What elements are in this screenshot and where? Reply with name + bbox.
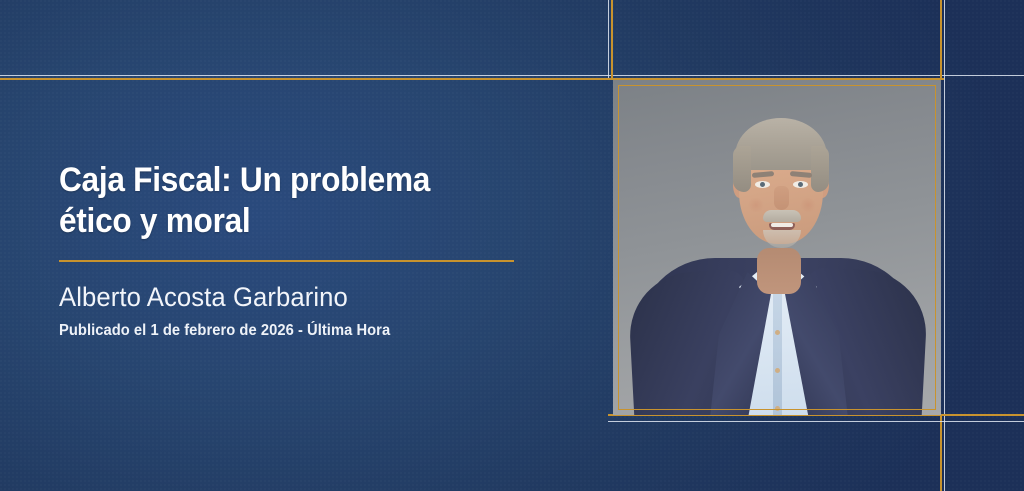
chin-beard bbox=[763, 230, 801, 248]
hair-side-right bbox=[811, 146, 829, 192]
right-vertical-gold-rule-bottom bbox=[940, 414, 942, 491]
shirt-placket bbox=[773, 286, 782, 415]
pupil-left bbox=[760, 182, 765, 187]
left-vertical-gold-rule bbox=[611, 0, 613, 80]
eye-left bbox=[755, 181, 770, 188]
shirt-button bbox=[775, 406, 780, 411]
article-text-block: Caja Fiscal: Un problema ético y moral A… bbox=[59, 160, 529, 340]
cheek-left bbox=[747, 198, 765, 212]
title-gold-divider bbox=[59, 260, 514, 262]
teeth-shape bbox=[771, 223, 793, 227]
portrait-figure bbox=[613, 80, 941, 415]
right-vertical-white-hairline bbox=[944, 0, 945, 491]
article-header-banner: Caja Fiscal: Un problema ético y moral A… bbox=[0, 0, 1024, 491]
portrait-photo bbox=[613, 80, 941, 415]
article-headline: Caja Fiscal: Un problema ético y moral bbox=[59, 160, 496, 243]
cheek-right bbox=[799, 198, 817, 212]
hair-side-left bbox=[733, 146, 751, 192]
shirt-button bbox=[775, 330, 780, 335]
article-author: Alberto Acosta Garbarino bbox=[59, 282, 506, 313]
nose-shape bbox=[774, 186, 789, 210]
neck-shape bbox=[757, 248, 801, 294]
eye-right bbox=[793, 181, 808, 188]
moustache-shape bbox=[763, 210, 801, 222]
right-vertical-gold-rule-top bbox=[940, 0, 942, 80]
top-white-hairline bbox=[0, 75, 1024, 76]
left-vertical-white-hairline bbox=[608, 0, 609, 78]
article-publish-date: Publicado el 1 de febrero de 2026 - Últi… bbox=[59, 322, 506, 340]
bottom-white-hairline bbox=[608, 421, 1024, 422]
portrait-frame bbox=[613, 80, 941, 415]
pupil-right bbox=[798, 182, 803, 187]
shirt-button bbox=[775, 368, 780, 373]
